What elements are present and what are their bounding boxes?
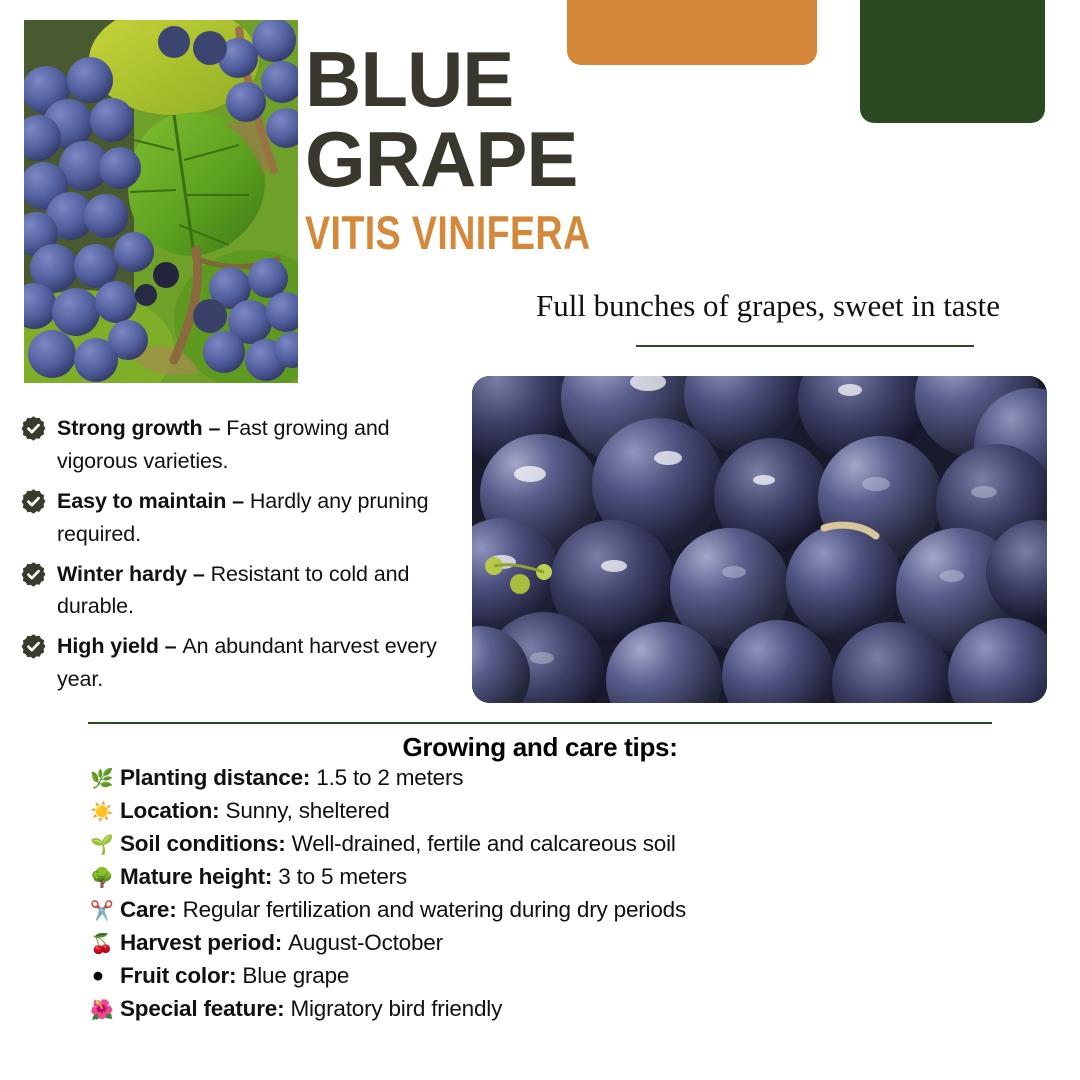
feature-label: Strong growth xyxy=(57,416,203,440)
feature-text: Easy to maintain – Hardly any pruning re… xyxy=(57,485,470,551)
list-item: Strong growth – Fast growing and vigorou… xyxy=(20,412,470,478)
tip-value: Well-drained, fertile and calcareous soi… xyxy=(292,831,676,856)
tree-icon: 🌳 xyxy=(90,869,120,888)
tip-text: Mature height: 3 to 5 meters xyxy=(120,864,407,890)
tip-label: Mature height: xyxy=(120,864,272,889)
list-item: Winter hardy – Resistant to cold and dur… xyxy=(20,558,470,624)
tip-text: Location: Sunny, sheltered xyxy=(120,798,390,824)
tip-value: Sunny, sheltered xyxy=(226,798,390,823)
feature-dash: – xyxy=(159,634,183,658)
tagline-divider xyxy=(636,345,974,347)
tip-label: Fruit color: xyxy=(120,963,236,988)
feature-label: Winter hardy xyxy=(57,562,187,586)
vine-photo xyxy=(24,20,298,383)
list-item: 🌺 Special feature: Migratory bird friend… xyxy=(90,996,1050,1029)
list-item: 🍒 Harvest period: August-October xyxy=(90,930,1050,963)
tip-label: Location: xyxy=(120,798,219,823)
scissors-icon: ✂️ xyxy=(90,902,120,921)
check-badge-icon xyxy=(20,415,47,442)
feature-dash: – xyxy=(203,416,227,440)
sun-icon: ☀️ xyxy=(90,803,120,822)
tip-value: 1.5 to 2 meters xyxy=(316,765,463,790)
tip-label: Special feature: xyxy=(120,996,284,1021)
seedling-icon: 🌱 xyxy=(90,836,120,855)
feature-text: Winter hardy – Resistant to cold and dur… xyxy=(57,558,470,624)
feature-list: Strong growth – Fast growing and vigorou… xyxy=(20,412,470,703)
feature-text: Strong growth – Fast growing and vigorou… xyxy=(57,412,470,478)
tip-text: Harvest period: August-October xyxy=(120,930,443,956)
feature-label: Easy to maintain xyxy=(57,489,226,513)
black-circle-icon: ⚫ xyxy=(90,968,120,987)
tip-label: Soil conditions: xyxy=(120,831,286,856)
tip-value: 3 to 5 meters xyxy=(278,864,407,889)
feature-dash: – xyxy=(226,489,250,513)
list-item: ✂️ Care: Regular fertilization and water… xyxy=(90,897,1050,930)
tagline: Full bunches of grapes, sweet in taste xyxy=(440,288,1000,324)
check-badge-icon xyxy=(20,633,47,660)
feature-label: High yield xyxy=(57,634,159,658)
tip-text: Fruit color: Blue grape xyxy=(120,963,349,989)
tips-divider xyxy=(88,722,992,724)
list-item: ⚫ Fruit color: Blue grape xyxy=(90,963,1050,996)
tip-label: Harvest period: xyxy=(120,930,282,955)
title-block: BLUE GRAPE VITIS VINIFERA xyxy=(305,42,1005,260)
tip-value: Regular fertilization and watering durin… xyxy=(183,897,686,922)
tip-label: Care: xyxy=(120,897,177,922)
tip-value: August-October xyxy=(288,930,443,955)
cherries-icon: 🍒 xyxy=(90,935,120,954)
feature-dash: – xyxy=(187,562,211,586)
tips-list: 🌿 Planting distance: 1.5 to 2 meters ☀️ … xyxy=(90,765,1050,1029)
hibiscus-icon: 🌺 xyxy=(90,1001,120,1020)
tip-value: Blue grape xyxy=(242,963,349,988)
list-item: Easy to maintain – Hardly any pruning re… xyxy=(20,485,470,551)
grape-photo xyxy=(472,376,1047,703)
tips-heading: Growing and care tips: xyxy=(88,732,992,763)
check-badge-icon xyxy=(20,561,47,588)
list-item: 🌳 Mature height: 3 to 5 meters xyxy=(90,864,1050,897)
tip-label: Planting distance: xyxy=(120,765,310,790)
list-item: ☀️ Location: Sunny, sheltered xyxy=(90,798,1050,831)
list-item: 🌿 Planting distance: 1.5 to 2 meters xyxy=(90,765,1050,798)
tip-value: Migratory bird friendly xyxy=(290,996,502,1021)
page-title-line1: BLUE xyxy=(305,42,1005,118)
list-item: High yield – An abundant harvest every y… xyxy=(20,630,470,696)
list-item: 🌱 Soil conditions: Well-drained, fertile… xyxy=(90,831,1050,864)
tip-text: Special feature: Migratory bird friendly xyxy=(120,996,502,1022)
scientific-name: VITIS VINIFERA xyxy=(305,205,865,260)
herb-icon: 🌿 xyxy=(90,770,120,789)
feature-text: High yield – An abundant harvest every y… xyxy=(57,630,470,696)
tip-text: Care: Regular fertilization and watering… xyxy=(120,897,686,923)
tip-text: Soil conditions: Well-drained, fertile a… xyxy=(120,831,676,857)
tip-text: Planting distance: 1.5 to 2 meters xyxy=(120,765,463,791)
check-badge-icon xyxy=(20,488,47,515)
page-title-line2: GRAPE xyxy=(305,122,1005,198)
